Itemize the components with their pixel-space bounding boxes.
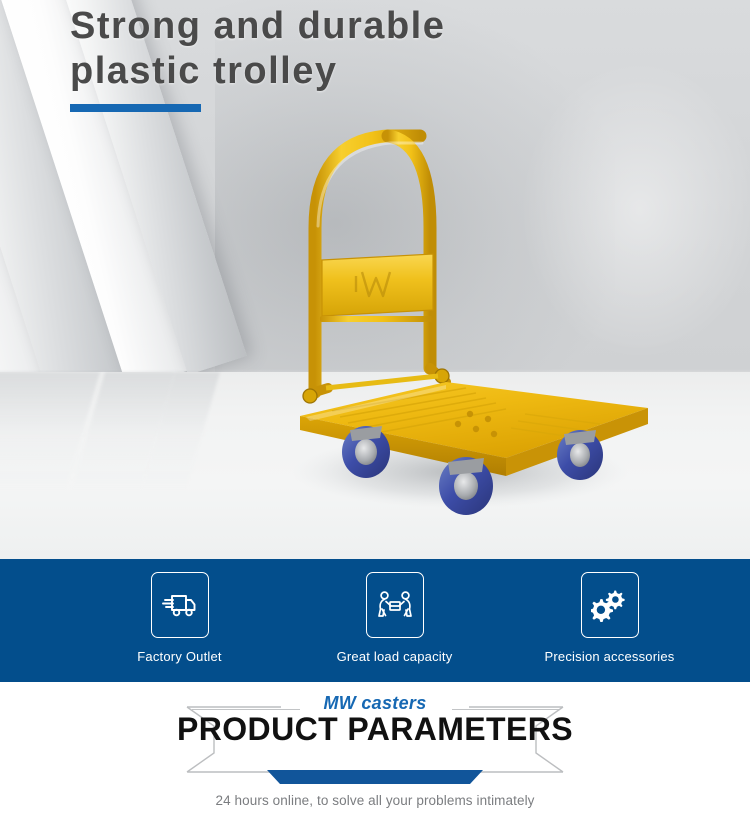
hero-title-line-2: plastic trolley (70, 49, 670, 94)
hero-title: Strong and durable plastic trolley (70, 4, 670, 94)
support-note: 24 hours online, to solve all your probl… (0, 793, 750, 808)
delivery-truck-icon (151, 572, 209, 638)
feature-list: Factory Outlet (0, 559, 750, 682)
feature-item-load-capacity[interactable]: Great load capacity (287, 572, 502, 664)
feature-item-factory-outlet[interactable]: Factory Outlet (72, 572, 287, 664)
feature-label: Factory Outlet (137, 649, 221, 664)
blue-accent-tab (0, 770, 750, 784)
feature-bar: Factory Outlet (0, 559, 750, 682)
product-parameters-section: MW casters PRODUCT PARAMETERS 24 hours o… (0, 682, 750, 819)
feature-label: Precision accessories (545, 649, 675, 664)
gears-icon (581, 572, 639, 638)
caster-front-center (439, 457, 493, 515)
hero-section: Strong and durable plastic trolley (0, 0, 750, 559)
hero-title-underline (70, 104, 201, 112)
two-people-carrying-box-icon (366, 572, 424, 638)
caster-front-left (342, 426, 390, 478)
page-title: PRODUCT PARAMETERS (0, 711, 750, 748)
caster-rear-right (557, 430, 603, 480)
product-banner-page: Strong and durable plastic trolley (0, 0, 750, 819)
feature-label: Great load capacity (337, 649, 453, 664)
hero-title-line-1: Strong and durable (70, 4, 670, 49)
feature-item-precision-accessories[interactable]: Precision accessories (502, 572, 717, 664)
product-image-trolley (270, 120, 650, 520)
